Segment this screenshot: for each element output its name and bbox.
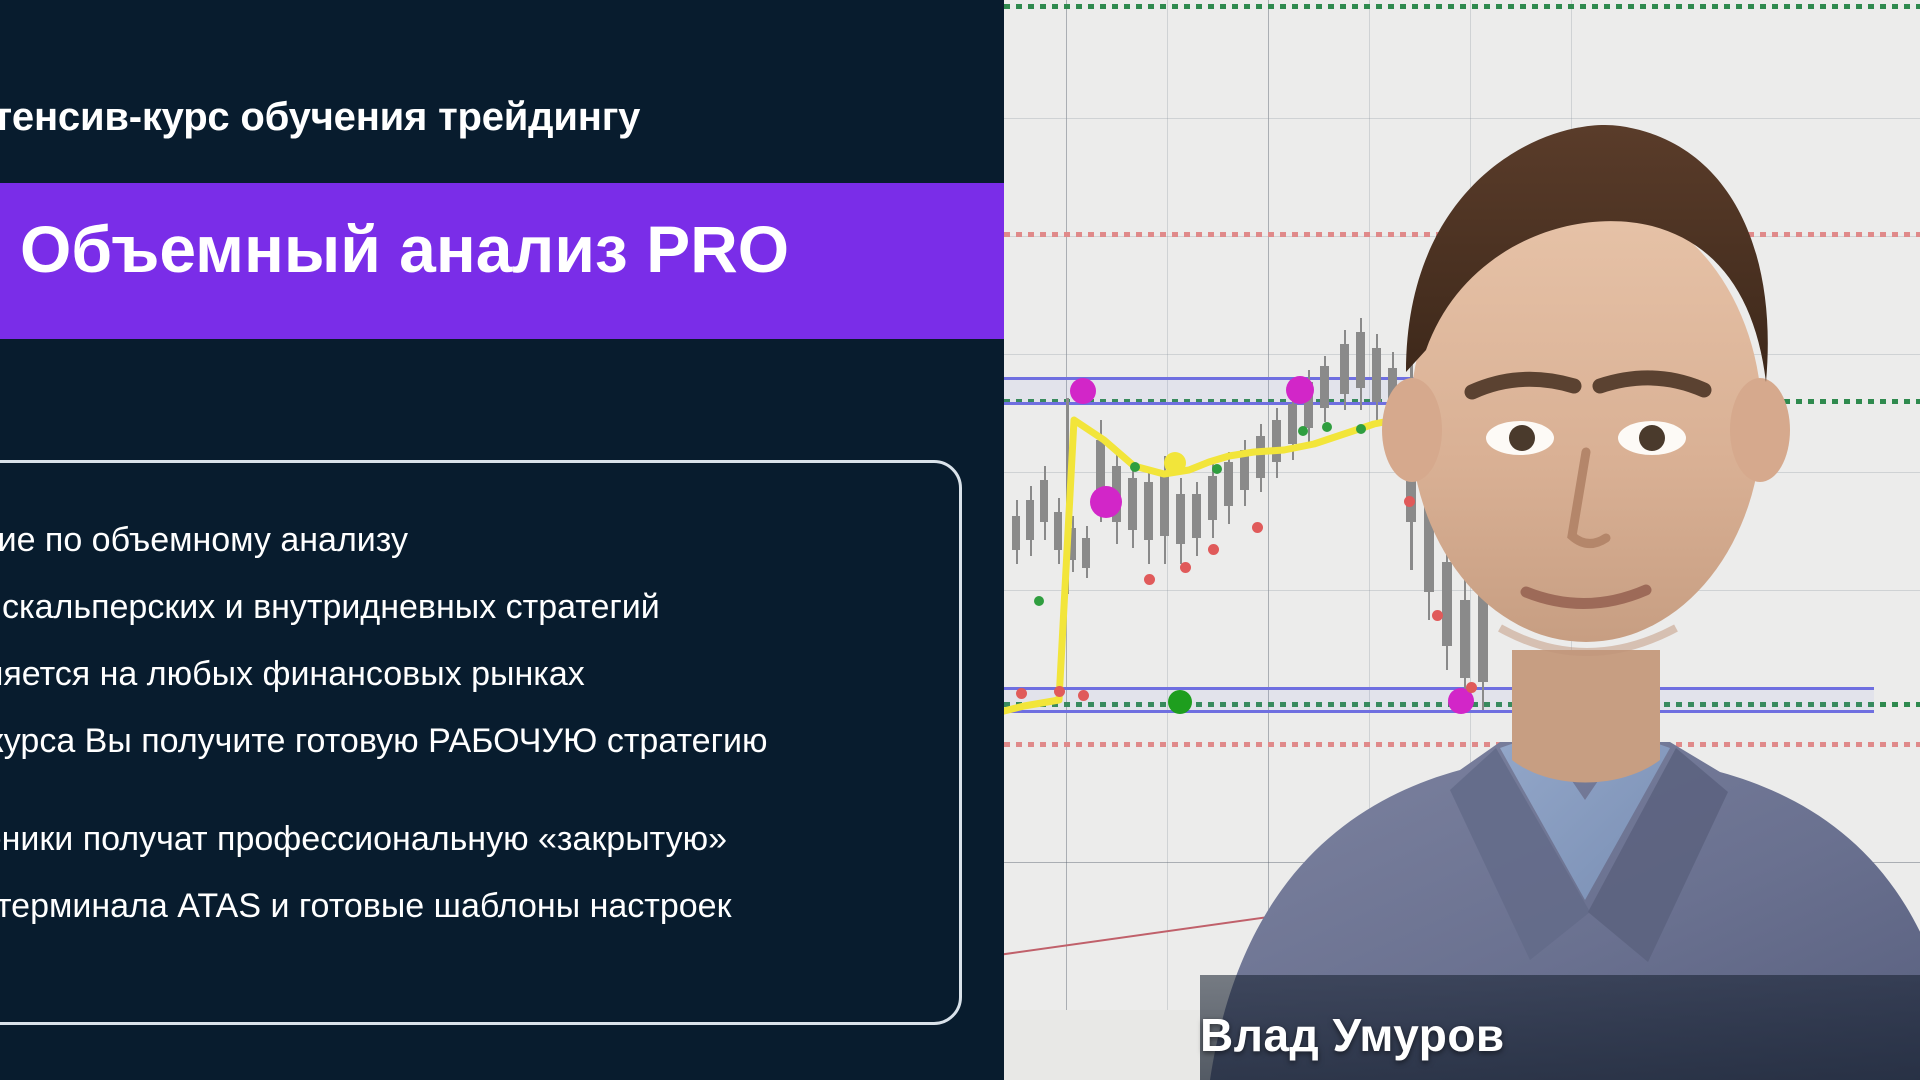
presenter-photo [1200,0,1920,1080]
signal-dot-red [1180,562,1191,573]
swing-marker-green [1168,690,1192,714]
candle-body [1012,516,1020,550]
hero-title: Объемный анализ PRO [20,211,789,287]
candle-body [1128,478,1137,530]
swing-marker-magenta [1070,378,1096,404]
candle-wick [1066,398,1069,594]
hero-kicker: Интенсив-курс обучения трейдингу [0,95,1004,140]
signal-dot-red [1144,574,1155,585]
signal-dot-red [1054,686,1065,697]
signal-dot-green [1034,596,1044,606]
feature-item-5: Все ученики получат профессиональную «за… [0,820,1004,859]
presenter-name: Влад Умуров [1200,1008,1505,1062]
feature-item-6: сборку терминала ATAS и готовые шаблоны … [0,887,1004,926]
presenter-portrait-illustration [1200,0,1920,1080]
candle-body [1040,480,1048,522]
signal-dot-green [1130,462,1140,472]
feature-item-1: Обучение по объемному анализу [0,521,1004,560]
candle-body [1054,512,1062,550]
candle-body [1144,482,1153,540]
left-content-panel: Интенсив-курс обучения трейдингу Объемны… [0,0,1004,1080]
feature-item-4: После курса Вы получите готовую РАБОЧУЮ … [0,722,1004,761]
swing-marker-magenta [1090,486,1122,518]
signal-dot-red [1016,688,1027,699]
ma-node-marker [1164,452,1186,474]
chart-photo-area: Влад Умуров [1004,0,1920,1080]
hero-title-band: Объемный анализ PRO [0,183,1004,339]
feature-item-2: Разбор скальперских и внутридневных стра… [0,588,1004,627]
candle-body [1160,474,1169,536]
candle-body [1068,528,1076,560]
candle-body [1026,500,1034,540]
feature-item-3: Применяется на любых финансовых рынках [0,655,1004,694]
signal-dot-red [1078,690,1089,701]
candle-body [1082,538,1090,568]
candle-body [1176,494,1185,544]
banner-root: Интенсив-курс обучения трейдингу Объемны… [0,0,1920,1080]
